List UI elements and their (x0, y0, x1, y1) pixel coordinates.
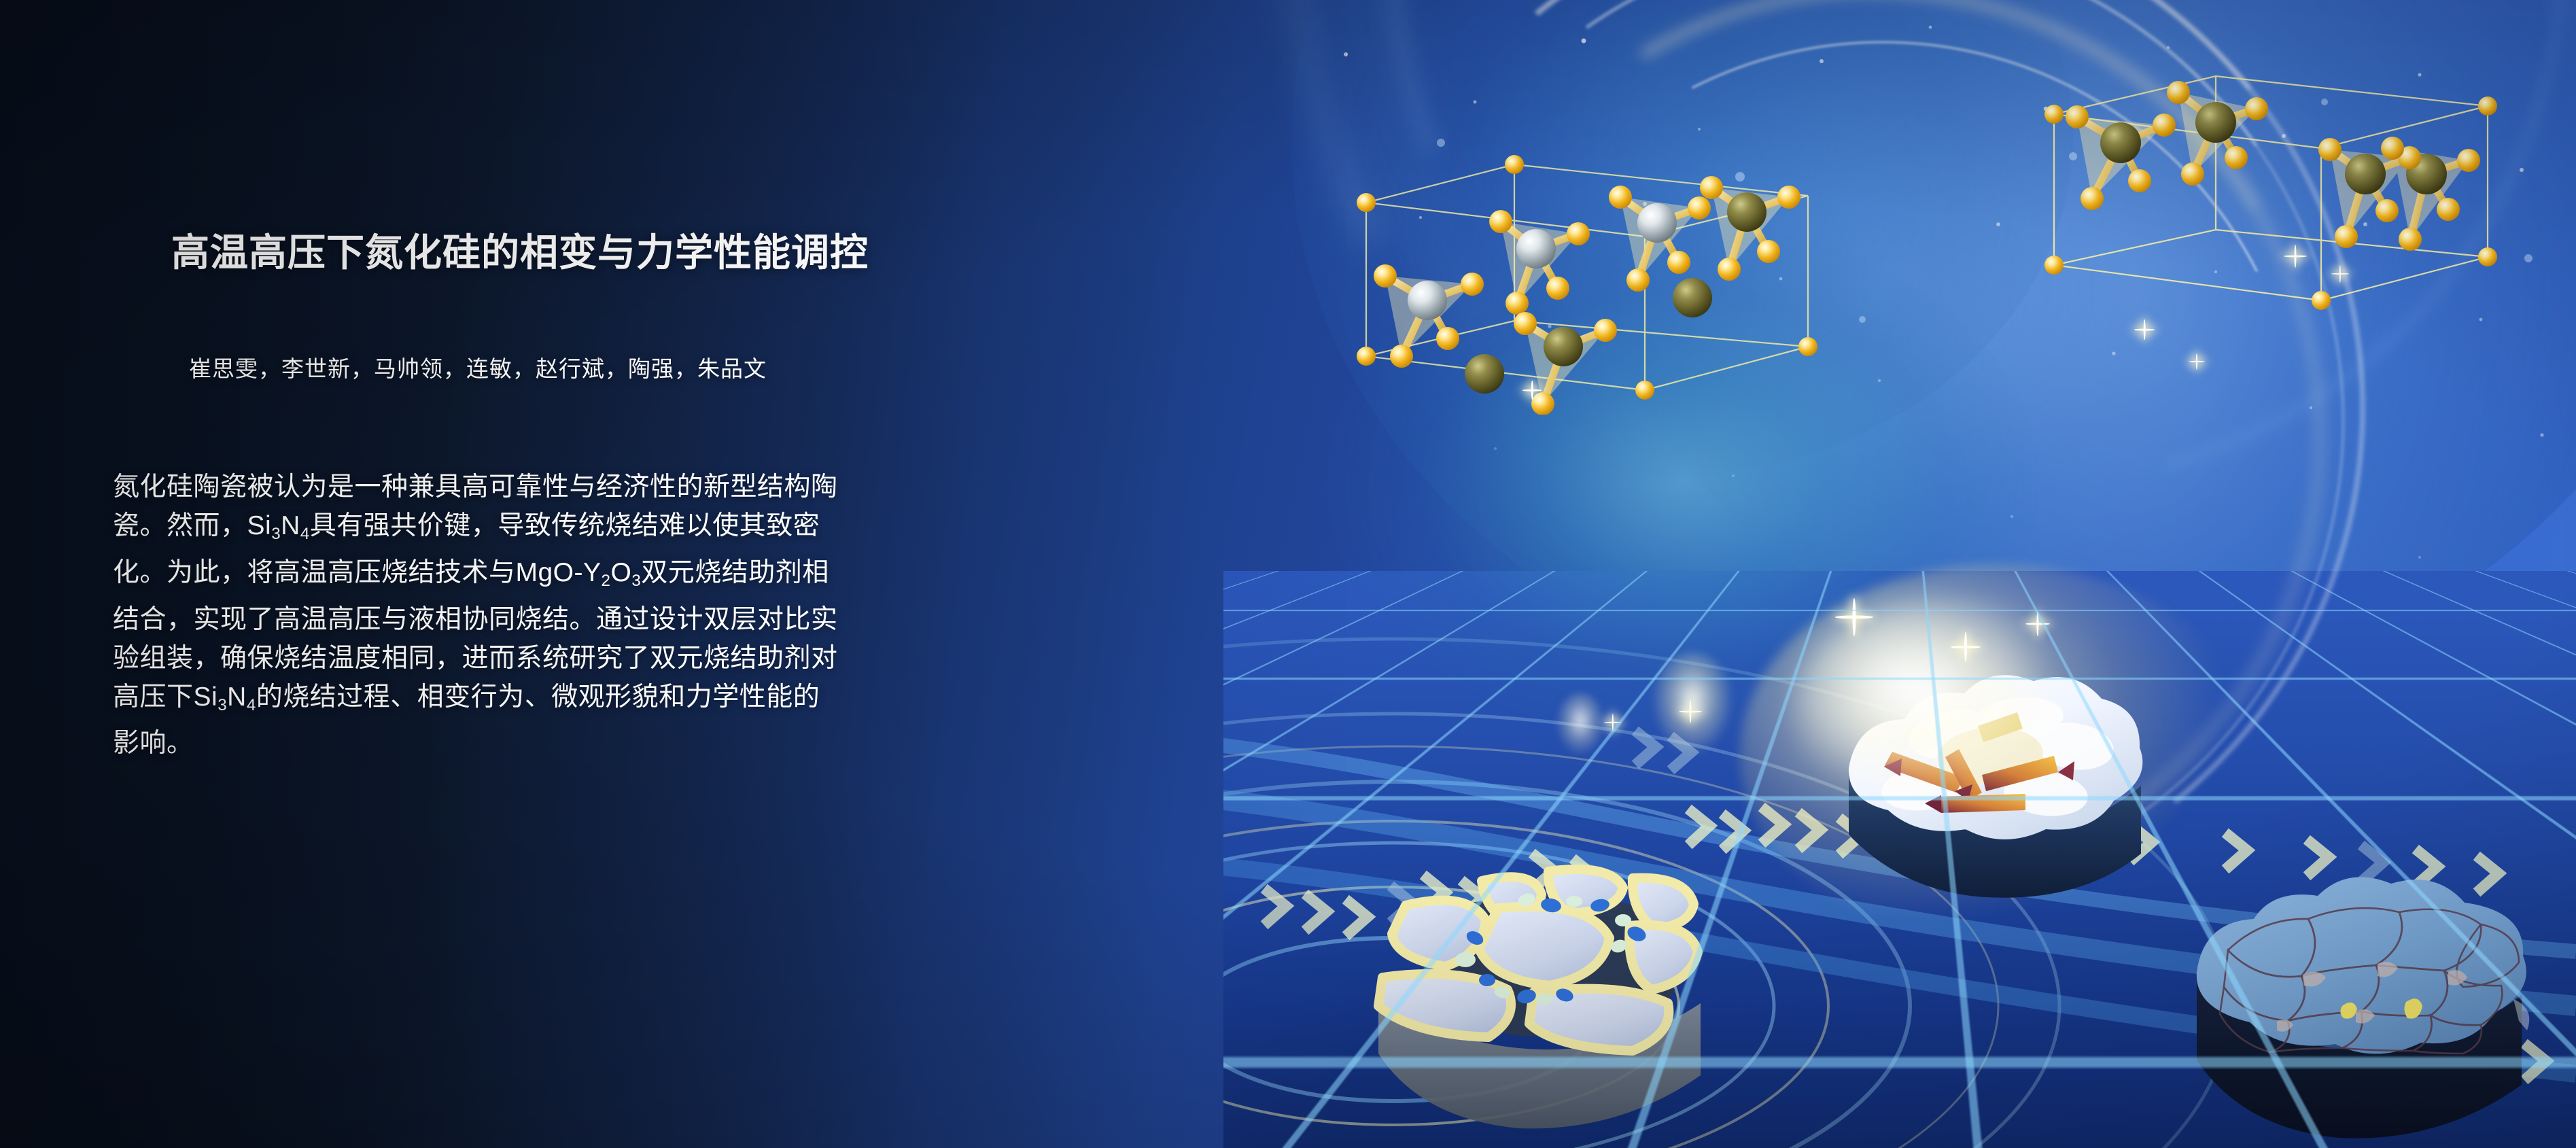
poster-canvas: 高温高压下氮化硅的相变与力学性能调控 崔思雯，李世新，马帅领，连敏，赵行斌，陶强… (0, 0, 2576, 1148)
page-title: 高温高压下氮化硅的相变与力学性能调控 (171, 230, 1218, 276)
author-list: 崔思雯，李世新，马帅领，连敏，赵行斌，陶强，朱品文 (189, 351, 1208, 383)
abstract-line-4: 结合，实现了高温高压与液相协同烧结。通过设计双层对比实 (113, 600, 1228, 639)
abstract-line-1: 氮化硅陶瓷被认为是一种兼具高可靠性与经济性的新型结构陶 (113, 468, 1228, 506)
abstract-text: 氮化硅陶瓷被认为是一种兼具高可靠性与经济性的新型结构陶 瓷。然而，Si3N4具有… (113, 468, 1228, 763)
perspective-grid-floor (1223, 571, 2576, 1148)
abstract-line-5: 验组装，确保烧结温度相同，进而系统研究了双元烧结助剂对 (113, 639, 1228, 678)
chevron-flow-arrows (1223, 571, 2576, 1148)
abstract-line-7: 影响。 (113, 724, 1228, 763)
abstract-line-6: 高压下Si3N4的烧结过程、相变行为、微观形貌和力学性能的 (113, 678, 1228, 725)
abstract-line-3: 化。为此，将高温高压烧结技术与MgO-Y2O3双元烧结助剂相 (113, 553, 1228, 600)
abstract-line-2: 瓷。然而，Si3N4具有强共价键，导致传统烧结难以使其致密 (113, 506, 1228, 553)
